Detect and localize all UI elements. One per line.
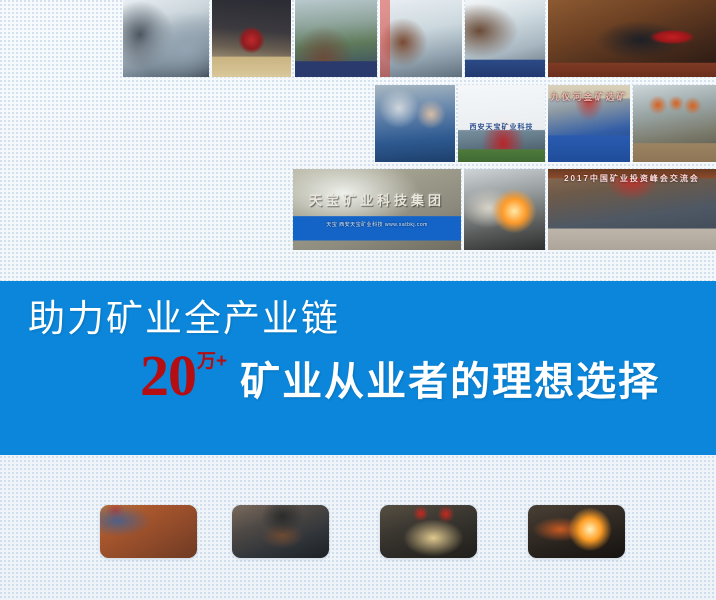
photo-fill (548, 0, 716, 77)
mining-company-photo-collage: 西安天宝矿业科技 九仪河金矿选矿 天宝矿业科技集团 天宝 西安天宝矿业科技 ww… (0, 0, 716, 262)
collage-photo-worker-selfie[interactable] (375, 85, 455, 162)
collage-photo-bottling-line[interactable] (380, 0, 462, 77)
collage-photo-lab-technician[interactable] (464, 169, 545, 250)
collage-photo-street-promotion[interactable]: 西安天宝矿业科技 (458, 85, 545, 162)
banner-tail-text: 矿业从业者的理想选择 (240, 362, 660, 402)
banner-headline: 助力矿业全产业链 (28, 297, 340, 341)
photo-fill (528, 505, 625, 558)
banner-big-number: 20 (140, 347, 196, 405)
photo-fill (465, 0, 545, 77)
thumbnail-field-geologist[interactable] (100, 505, 197, 558)
photo-fill (100, 505, 197, 558)
promo-banner: 助力矿业全产业链 20 万+ 矿业从业者的理想选择 (0, 281, 716, 455)
collage-photo-company-signage[interactable]: 天宝矿业科技集团 天宝 西安天宝矿业科技 www.xatbkj.com (293, 169, 461, 250)
thumbnail-two-workers[interactable] (380, 505, 477, 558)
banner-subheadline: 20 万+ 矿业从业者的理想选择 (140, 347, 660, 405)
collage-photo-executive-office[interactable] (548, 0, 716, 77)
photo-fill (464, 169, 545, 250)
photo-gate-sign-text: 九仪河金矿选矿 (548, 90, 630, 103)
collage-photo-helmet-crew[interactable] (633, 85, 716, 162)
photo-fill (375, 85, 455, 162)
company-signage-subtext: 天宝 西安天宝矿业科技 www.xatbkj.com (293, 221, 461, 228)
photo-fill (380, 0, 462, 77)
photo-fill (123, 0, 209, 77)
collage-photo-mountain-team[interactable] (295, 0, 377, 77)
collage-photo-conference-group[interactable]: 2017中国矿业投资峰会交流会 (548, 169, 716, 250)
collage-photo-sample-testing[interactable] (465, 0, 545, 77)
company-signage-text: 天宝矿业科技集团 (293, 190, 461, 209)
page-root: 西安天宝矿业科技 九仪河金矿选矿 天宝矿业科技集团 天宝 西安天宝矿业科技 ww… (0, 0, 716, 600)
banner-number-unit: 万+ (197, 346, 227, 373)
bottom-thumbnail-strip (0, 505, 716, 565)
conference-banner-text: 2017中国矿业投资峰会交流会 (548, 173, 716, 184)
collage-photo-award-ceremony[interactable] (212, 0, 291, 77)
thumbnail-smiling-miner[interactable] (232, 505, 329, 558)
photo-banner-text: 西安天宝矿业科技 (458, 122, 545, 132)
thumbnail-furnace-worker[interactable] (528, 505, 625, 558)
collage-photo-team-photo-gate[interactable]: 九仪河金矿选矿 (548, 85, 630, 162)
photo-fill (380, 505, 477, 558)
photo-fill (633, 85, 716, 162)
photo-fill (295, 0, 377, 77)
photo-fill (293, 169, 461, 250)
photo-fill (232, 505, 329, 558)
collage-photo-lab-operator[interactable] (123, 0, 209, 77)
photo-fill (212, 0, 291, 77)
